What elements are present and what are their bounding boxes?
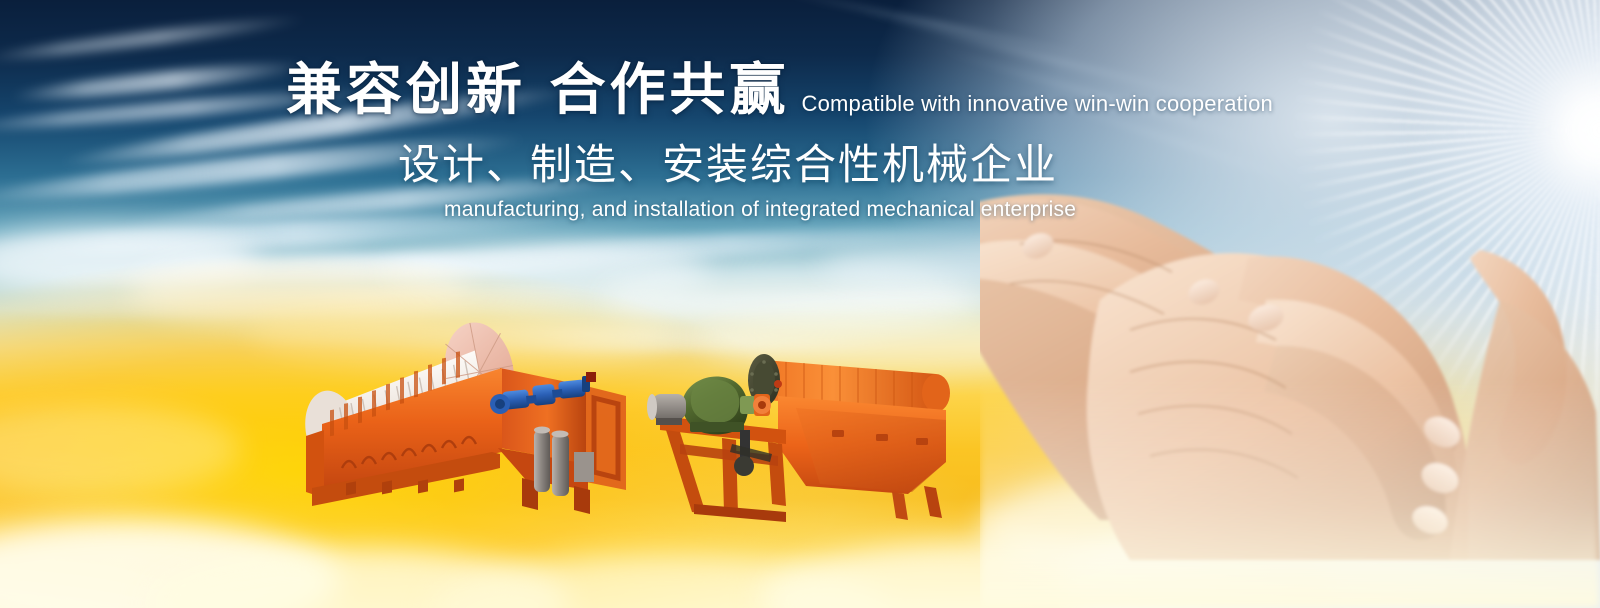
headline-english: Compatible with innovative win-win coope… xyxy=(802,91,1273,121)
headline-row: 兼容创新 合作共赢 Compatible with innovative win… xyxy=(286,62,1246,121)
subheadline-english: manufacturing, and installation of integ… xyxy=(444,198,1246,222)
headline-chinese: 兼容创新 合作共赢 xyxy=(286,62,790,121)
banner-text-block: 兼容创新 合作共赢 Compatible with innovative win… xyxy=(286,62,1246,222)
subheadline-chinese: 设计、制造、安装综合性机械企业 xyxy=(398,131,1246,192)
promotional-banner: 兼容创新 合作共赢 Compatible with innovative win… xyxy=(0,0,1600,608)
